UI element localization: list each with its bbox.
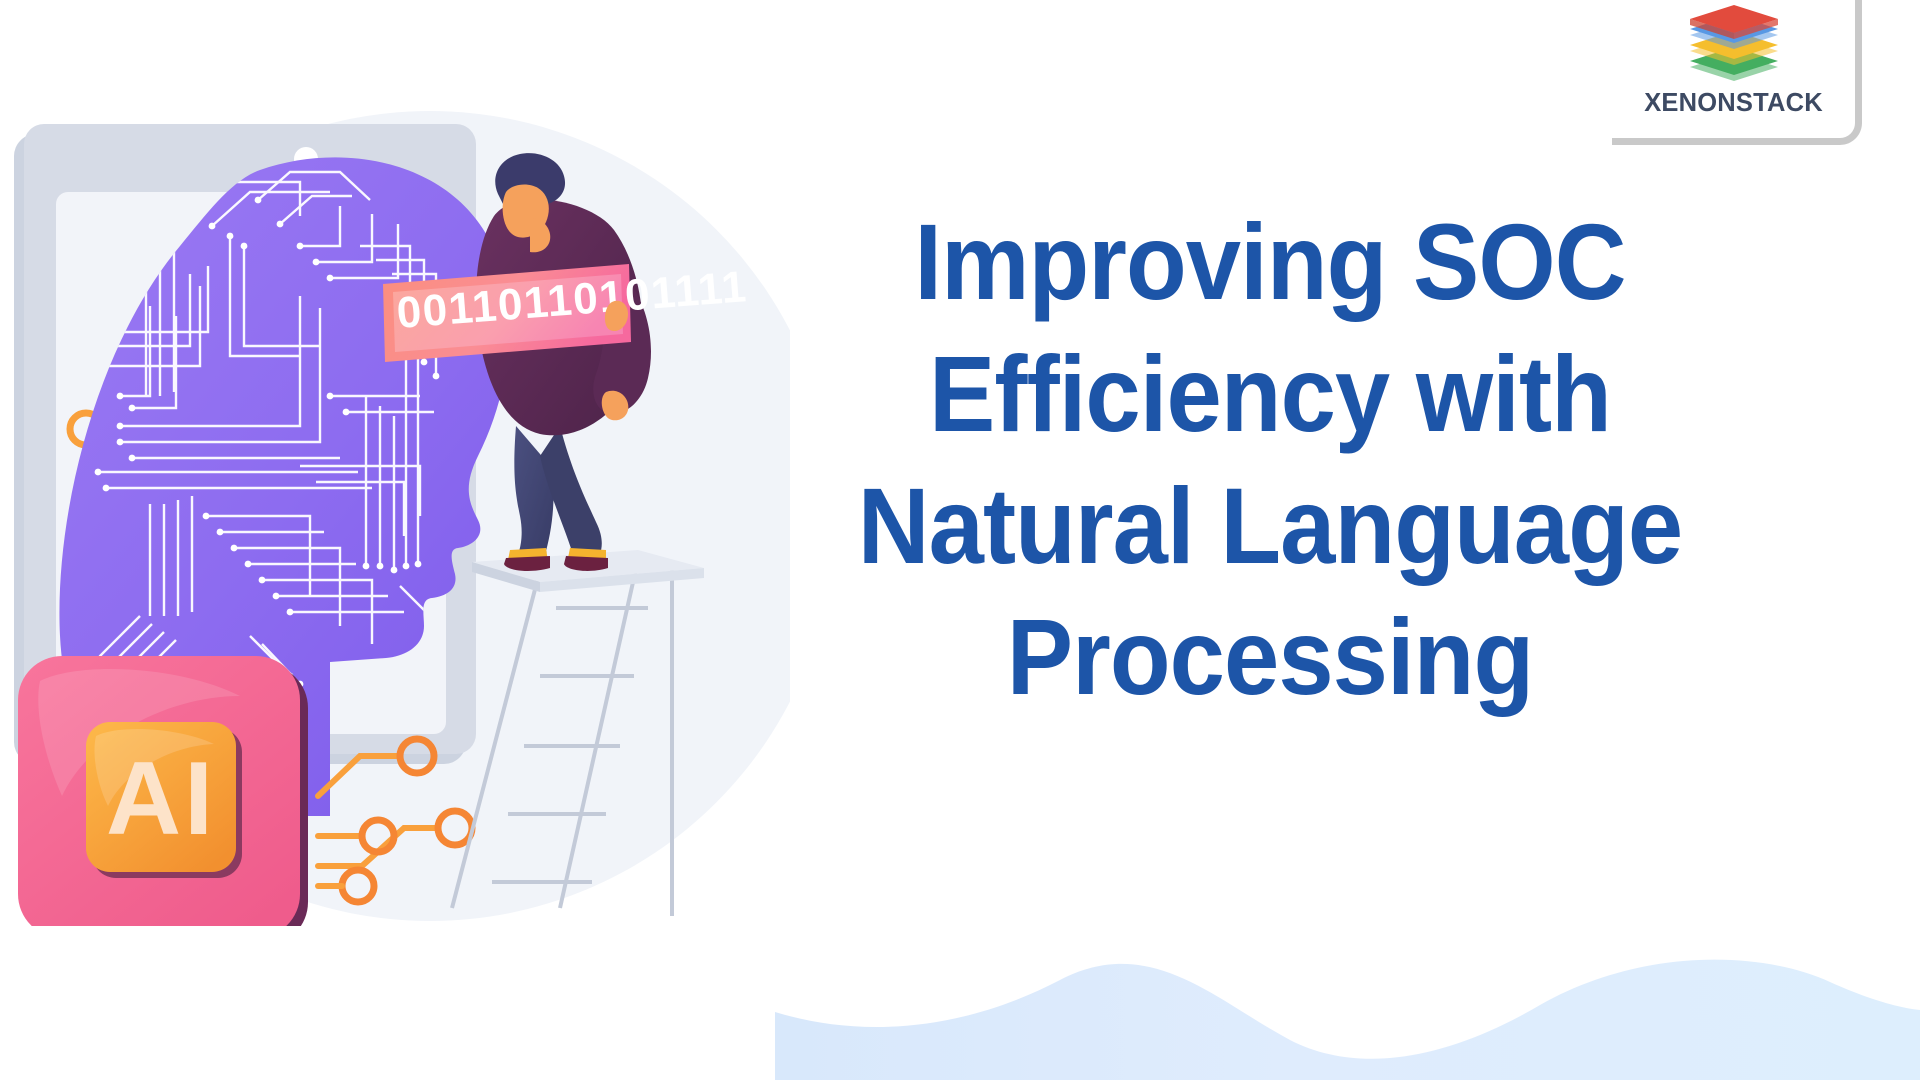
xenonstack-logo-icon (1684, 1, 1784, 89)
svg-text:AI: AI (106, 741, 216, 857)
title-line-4: Processing (690, 591, 1849, 723)
brand-wordmark: XENONSTACK (1644, 91, 1823, 117)
slide-canvas: AI (0, 0, 1920, 1080)
brand-logo-card[interactable]: XENONSTACK (1612, 0, 1862, 145)
page-title: Improving SOC Efficiency with Natural La… (690, 196, 1849, 723)
title-line-2: Efficiency with (690, 328, 1849, 460)
title-line-1: Improving SOC (690, 196, 1849, 328)
ai-chip: AI (18, 656, 308, 926)
ai-nlp-illustration: AI (0, 96, 790, 926)
title-line-3: Natural Language (690, 460, 1849, 592)
